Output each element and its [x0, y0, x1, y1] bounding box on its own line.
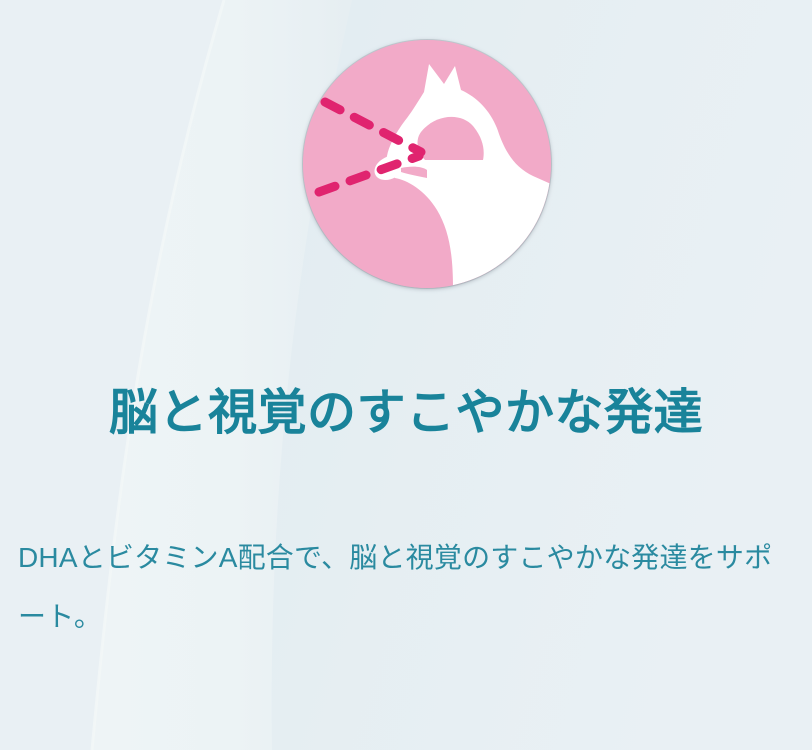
cat-vision-icon: [303, 40, 551, 288]
feature-card: 脳と視覚のすこやかな発達 DHAとビタミンA配合で、脳と視覚のすこやかな発達をサ…: [0, 0, 812, 750]
feature-description: DHAとビタミンA配合で、脳と視覚のすこやかな発達をサポート。: [18, 528, 794, 646]
icon-badge-wrapper: [303, 40, 551, 288]
feature-headline: 脳と視覚のすこやかな発達: [0, 385, 812, 443]
